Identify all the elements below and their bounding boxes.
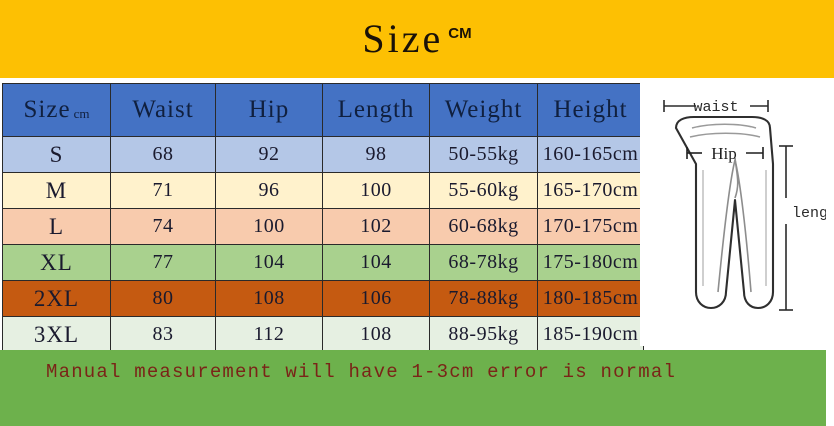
cell-size: XL — [3, 245, 111, 281]
cell-size: L — [3, 209, 111, 245]
column-header-weight: Weight — [430, 84, 538, 137]
cell-hip: 92 — [216, 137, 323, 173]
length-label: length — [792, 205, 826, 222]
cell-hip: 112 — [216, 317, 323, 353]
cell-weight: 55-60kg — [430, 173, 538, 209]
table-row: XL 77 104 104 68-78kg 175-180cm — [3, 245, 644, 281]
footer-note: Manual measurement will have 1-3cm error… — [46, 358, 786, 386]
cell-weight: 60-68kg — [430, 209, 538, 245]
title-banner: SizeCM — [0, 0, 834, 78]
cell-length: 102 — [323, 209, 430, 245]
table-row: 3XL 83 112 108 88-95kg 185-190cm — [3, 317, 644, 353]
cell-length: 104 — [323, 245, 430, 281]
table-row: S 68 92 98 50-55kg 160-165cm — [3, 137, 644, 173]
size-chart-page: SizeCM Sizecm Waist Hip Length Weight He… — [0, 0, 834, 426]
size-table: Sizecm Waist Hip Length Weight Height S … — [2, 83, 644, 353]
page-title-unit: CM — [448, 25, 471, 42]
cell-waist: 77 — [111, 245, 216, 281]
cell-hip: 100 — [216, 209, 323, 245]
cell-height: 170-175cm — [538, 209, 644, 245]
cell-height: 160-165cm — [538, 137, 644, 173]
cell-hip: 108 — [216, 281, 323, 317]
column-header-height: Height — [538, 84, 644, 137]
column-header-size-unit: cm — [74, 106, 90, 121]
waist-label: waist — [693, 99, 738, 116]
table-row: 2XL 80 108 106 78-88kg 180-185cm — [3, 281, 644, 317]
pants-diagram-panel: waist — [640, 80, 826, 346]
cell-height: 175-180cm — [538, 245, 644, 281]
column-header-size-label: Size — [24, 96, 71, 123]
right-edge-strip — [826, 350, 834, 426]
table-row: L 74 100 102 60-68kg 170-175cm — [3, 209, 644, 245]
cell-weight: 78-88kg — [430, 281, 538, 317]
cell-height: 165-170cm — [538, 173, 644, 209]
column-header-length: Length — [323, 84, 430, 137]
cell-size: 3XL — [3, 317, 111, 353]
table-row: M 71 96 100 55-60kg 165-170cm — [3, 173, 644, 209]
page-title-text: Size — [362, 16, 443, 61]
cell-hip: 96 — [216, 173, 323, 209]
hip-label: Hip — [711, 144, 737, 163]
cell-hip: 104 — [216, 245, 323, 281]
column-header-size: Sizecm — [3, 84, 111, 137]
cell-length: 106 — [323, 281, 430, 317]
cell-height: 185-190cm — [538, 317, 644, 353]
page-title: SizeCM — [0, 8, 834, 65]
cell-length: 108 — [323, 317, 430, 353]
size-table-body: S 68 92 98 50-55kg 160-165cm M 71 96 100… — [3, 137, 644, 353]
cell-length: 98 — [323, 137, 430, 173]
cell-weight: 50-55kg — [430, 137, 538, 173]
cell-weight: 68-78kg — [430, 245, 538, 281]
length-measure-arrow — [779, 146, 793, 310]
cell-height: 180-185cm — [538, 281, 644, 317]
cell-size: 2XL — [3, 281, 111, 317]
cell-waist: 74 — [111, 209, 216, 245]
cell-waist: 80 — [111, 281, 216, 317]
column-header-hip: Hip — [216, 84, 323, 137]
table-header-row: Sizecm Waist Hip Length Weight Height — [3, 84, 644, 137]
column-header-waist: Waist — [111, 84, 216, 137]
cell-waist: 68 — [111, 137, 216, 173]
cell-weight: 88-95kg — [430, 317, 538, 353]
pants-diagram: waist — [640, 80, 826, 346]
cell-size: S — [3, 137, 111, 173]
cell-length: 100 — [323, 173, 430, 209]
size-table-head: Sizecm Waist Hip Length Weight Height — [3, 84, 644, 137]
cell-waist: 71 — [111, 173, 216, 209]
cell-size: M — [3, 173, 111, 209]
cell-waist: 83 — [111, 317, 216, 353]
